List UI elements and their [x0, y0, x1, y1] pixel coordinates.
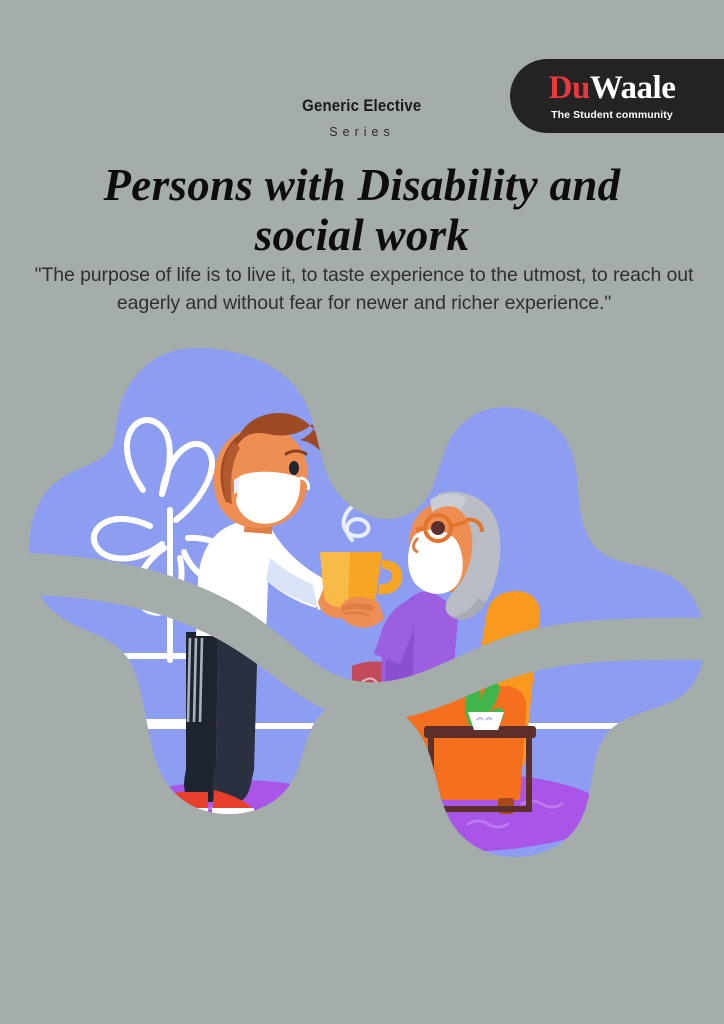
caregiver-eye: [289, 461, 299, 475]
series-kicker-line1: Generic Elective: [302, 96, 421, 116]
poster-canvas: DuWaale The Student community Generic El…: [0, 0, 724, 1024]
brand-logo-waale: Waale: [590, 70, 676, 106]
page-title-line2: social work: [40, 210, 684, 260]
brand-logo-badge[interactable]: DuWaale The Student community: [510, 59, 724, 133]
brand-logo-tagline: The Student community: [551, 109, 673, 121]
curtain: [620, 726, 724, 850]
brand-logo-du: Du: [549, 70, 590, 106]
brand-logo-wordmark: DuWaale: [549, 72, 676, 105]
quote-text: "The purpose of life is to live it, to t…: [32, 262, 696, 317]
illustration-artwork: [0, 330, 724, 970]
page-title-line1: Persons with Disability and: [40, 160, 684, 210]
page-title: Persons with Disability and social work: [40, 160, 684, 261]
